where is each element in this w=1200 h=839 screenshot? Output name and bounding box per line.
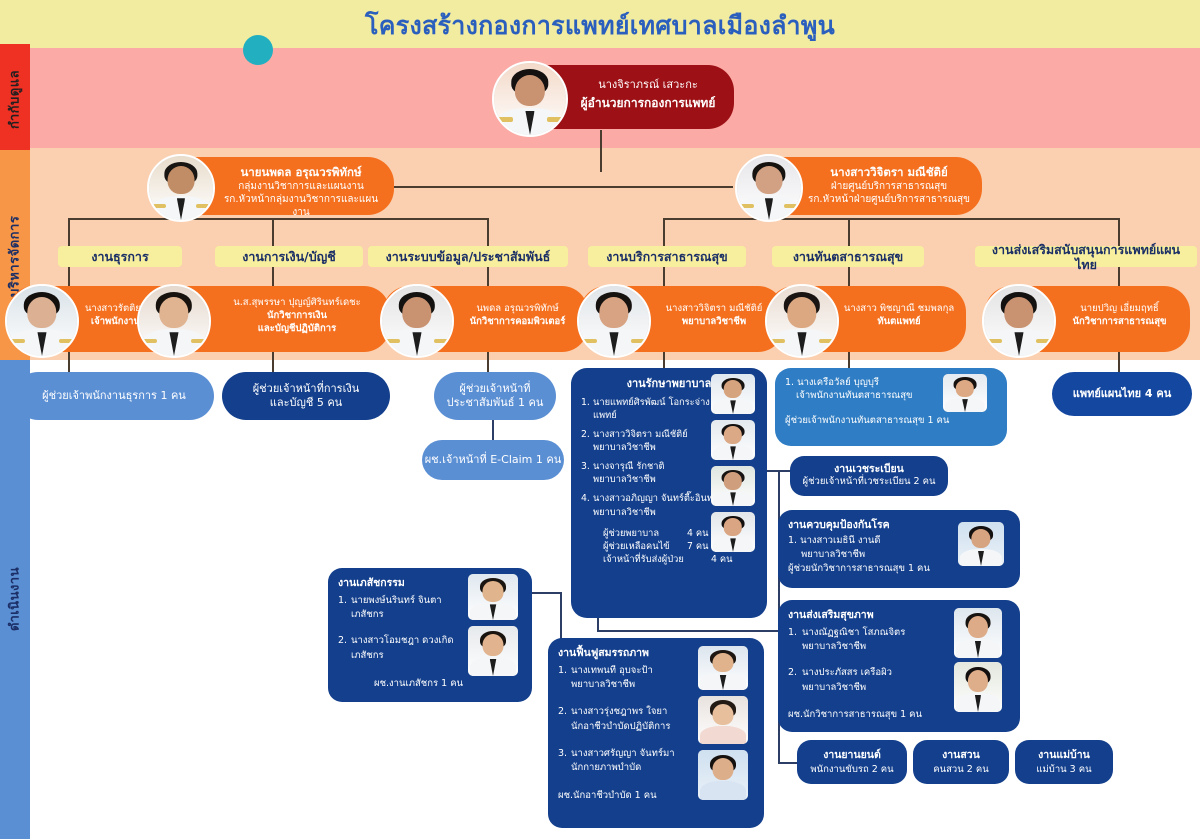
staff6-name: นายปวิญ เอี่ยมฤทธิ์ [1055, 303, 1184, 316]
connector-tag1-down [68, 266, 70, 286]
node-staff-dental[interactable]: นางสาว พิชญาณี ชมพลกุล ทันตแพทย์ [768, 286, 966, 352]
promotion-m1-role: พยาบาลวิชาชีพ [802, 641, 866, 652]
avatar-dental-1 [943, 374, 987, 412]
avatar-nursing-2 [711, 420, 755, 460]
node-housekeeping-unit[interactable]: งานแม่บ้าน แม่บ้าน 3 คน [1015, 740, 1113, 784]
avatar-nursing-3 [711, 466, 755, 506]
staff6-role: นักวิชาการสาธารณสุข [1055, 316, 1184, 329]
node-support-thai-medicine[interactable]: แพทย์แผนไทย 4 คน [1052, 372, 1192, 416]
promotion-m2-name: นางประภัสสร เครือผิว [802, 667, 892, 678]
connector-nursing-rehab [597, 630, 779, 632]
avatar-nursing-1 [711, 374, 755, 414]
node-support-eclaim[interactable]: ผช.เจ้าหน้าที่ E-Claim 1 คน [422, 440, 564, 480]
support4-line1: ผช.เจ้าหน้าที่ E-Claim 1 คน [425, 453, 562, 467]
deputy1-group: กลุ่มงานวิชาการและแผนงาน [216, 180, 386, 193]
node-staff-finance[interactable]: น.ส.สุพรรษา ปุญญ์ศิรินทร์เดชะ นักวิชาการ… [140, 286, 390, 352]
deputy1-acting: รก.หัวหน้ากลุ่มงานวิชาการและแผนงาน [216, 193, 386, 219]
node-deputy-service[interactable]: นางสาววิจิตรา มณีชัติย์ ฝ่ายศูนย์บริการส… [740, 157, 982, 215]
nursing-m4-name: นางสาวอภิญญา จันทร์ตี๊ะอินทร์ [593, 493, 718, 504]
division-tag-public-health[interactable]: งานบริการสาธารณสุข [588, 246, 746, 267]
node-rehab-unit[interactable]: งานฟื้นฟูสมรรถภาพ 1. นางเทพนที อุบจะป้าพ… [548, 638, 764, 828]
support5-line1: แพทย์แผนไทย 4 คน [1073, 387, 1172, 401]
support2-line2: และบัญชี 5 คน [253, 396, 360, 410]
staff3-role: นักวิชาการคอมพิวเตอร์ [453, 316, 582, 329]
staff3-name: นพดล อรุณวรพิทักษ์ [453, 303, 582, 316]
connector-div4-down [663, 218, 665, 246]
node-staff-thai-medicine[interactable]: นายปวิญ เอี่ยมฤทธิ์ นักวิชาการสาธารณสุข [985, 286, 1190, 352]
deputy2-acting: รก.หัวหน้าฝ่ายศูนย์บริการสาธารณสุข [804, 193, 974, 206]
nursing-c2-value: 7 คน [687, 540, 708, 553]
node-health-promotion-unit[interactable]: งานส่งเสริมสุขภาพ 1. นางณัฏฐณิชา โสภณจิต… [778, 600, 1020, 732]
division-tag-thai-medicine[interactable]: งานส่งเสริมสนับสนุนการแพทย์แผนไทย [975, 246, 1197, 267]
rail-label-supervise: กำกับดูแล [0, 44, 30, 154]
org-chart-canvas: โครงสร้างกองการแพทย์เทศบาลเมืองลำพูน กำก… [0, 0, 1200, 839]
nursing-m2-name: นางสาววิจิตรา มณีชัติย์ [593, 429, 688, 440]
promotion-m2-role: พยาบาลวิชาชีพ [802, 682, 866, 693]
avatar-staff-finance [137, 284, 211, 358]
avatar-promotion-1 [954, 608, 1002, 658]
division-tag-information[interactable]: งานระบบข้อมูล/ประชาสัมพันธ์ [368, 246, 568, 267]
node-support-finance[interactable]: ผู้ช่วยเจ้าหน้าที่การเงิน และบัญชี 5 คน [222, 372, 390, 420]
pharmacy-m1-role: เภสัชกร [351, 609, 384, 620]
staff4-role: พยาบาลวิชาชีพ [650, 316, 778, 329]
pharmacy-support: ผช.งานเภสัชกร 1 คน [374, 677, 522, 691]
staff4-name: นางสาววิจิตรา มณีชัติย์ [650, 303, 778, 316]
node-disease-control-unit[interactable]: งานควบคุมป้องกันโรค 1. นางสาวเมธินี งานด… [778, 510, 1020, 588]
footer1-heading: งานยานยนต์ [810, 748, 893, 763]
pharmacy-m2-name: นางสาวโอมชฎา ดวงเกิด [351, 635, 454, 646]
connector-tag3-down [487, 266, 489, 286]
staff2-name: น.ส.สุพรรษา ปุญญ์ศิรินทร์เดชะ [210, 297, 384, 310]
avatar-deputy-service [735, 154, 803, 222]
support2-line1: ผู้ช่วยเจ้าหน้าที่การเงิน [253, 382, 360, 396]
connector-p3-down [487, 352, 489, 372]
deputy2-group: ฝ่ายศูนย์บริการสาธารณสุข [804, 180, 974, 193]
staff2-role: นักวิชาการเงิน [210, 310, 384, 323]
page-title: โครงสร้างกองการแพทย์เทศบาลเมืองลำพูน [0, 6, 1200, 46]
nursing-m4-role: พยาบาลวิชาชีพ [593, 507, 656, 518]
avatar-pharmacy-1 [468, 574, 518, 620]
support1-line1: ผู้ช่วยเจ้าพนักงานธุรการ 1 คน [42, 389, 186, 403]
rehab-m3-name: นางสาวศรัญญา จันทร์มา [571, 748, 675, 759]
rehab-m2-name: นางสาวรุ่งชฎาพร ใจยา [571, 706, 667, 717]
avatar-deputy-academic [147, 154, 215, 222]
node-garden-unit[interactable]: งานสวน คนสวน 2 คน [913, 740, 1009, 784]
rehab-m1-name: นางเทพนที อุบจะป้า [571, 665, 653, 676]
connector-div3-down [487, 218, 489, 246]
connector-p6-down [1118, 352, 1120, 372]
node-staff-public-health[interactable]: นางสาววิจิตรา มณีชัติย์ พยาบาลวิชาชีพ [580, 286, 784, 352]
registry-heading: งานเวชระเบียน [790, 462, 948, 476]
decorative-circle [243, 35, 273, 65]
pharmacy-m1-name: นายพงษ์นรินทร์ จินตา [351, 595, 442, 606]
registry-line2: ผู้ช่วยเจ้าหน้าที่เวชระเบียน 2 คน [790, 476, 948, 489]
connector-right-fan [663, 218, 1119, 220]
connector-tag5-down [848, 266, 850, 286]
staff2-role2: และบัญชีปฏิบัติการ [210, 323, 384, 336]
avatar-rehab-2 [698, 696, 748, 744]
node-support-pr[interactable]: ผู้ช่วยเจ้าหน้าที่ ประชาสัมพันธ์ 1 คน [434, 372, 556, 420]
avatar-staff-public-health [577, 284, 651, 358]
division-tag-dental[interactable]: งานทันตสาธารณสุข [772, 246, 924, 267]
director-position: ผู้อำนวยการกองการแพทย์ [570, 95, 726, 111]
avatar-rehab-3 [698, 750, 748, 800]
avatar-staff-thai-medicine [982, 284, 1056, 358]
support3-line2: ประชาสัมพันธ์ 1 คน [447, 396, 544, 410]
connector-p2-down [272, 352, 274, 372]
nursing-c3-value: 4 คน [711, 553, 732, 566]
deputy1-name: นายนพดล อรุณวรพิทักษ์ [216, 165, 386, 180]
nursing-c1-value: 4 คน [687, 527, 708, 540]
node-dental-unit[interactable]: 1. นางเครือวัลย์ บุญบุรี เจ้าพนักงานทันต… [775, 368, 1007, 446]
connector-tag4-down [663, 266, 665, 286]
connector-director-down [600, 130, 602, 172]
deputy2-name: นางสาววิจิตรา มณีชัติย์ [804, 165, 974, 180]
nursing-m1-role: แพทย์ [593, 410, 617, 421]
support3-line1: ผู้ช่วยเจ้าหน้าที่ [447, 382, 544, 396]
avatar-rehab-1 [698, 646, 748, 690]
avatar-pharmacy-2 [468, 626, 518, 676]
connector-pharmacy-down [560, 592, 562, 642]
staff5-role: ทันตแพทย์ [838, 316, 960, 329]
node-nursing-unit[interactable]: งานรักษาพยาบาล 1. นายแพทย์ศิรพัฒน์ โอกระ… [571, 368, 767, 618]
nursing-m3-name: นางจารุณี รักชาติ [593, 461, 665, 472]
node-director[interactable]: นางจิราภรณ์ เสวะกะ ผู้อำนวยการกองการแพทย… [498, 65, 734, 129]
connector-div1-down [68, 218, 70, 246]
avatar-disease-1 [958, 522, 1004, 566]
division-tag-finance[interactable]: งานการเงิน/บัญชี [215, 246, 363, 267]
rail-label-operate: ดำเนินงาน [0, 360, 30, 839]
staff5-name: นางสาว พิชญาณี ชมพลกุล [838, 303, 960, 316]
node-staff-information[interactable]: นพดล อรุณวรพิทักษ์ นักวิชาการคอมพิวเตอร์ [383, 286, 588, 352]
avatar-staff-dental [765, 284, 839, 358]
nursing-m2-role: พยาบาลวิชาชีพ [593, 442, 656, 453]
avatar-director [492, 61, 568, 137]
nursing-c1-label: ผู้ช่วยพยาบาล [603, 527, 687, 540]
director-name: นางจิราภรณ์ เสวะกะ [570, 78, 726, 93]
avatar-promotion-2 [954, 662, 1002, 712]
node-deputy-academic[interactable]: นายนพดล อรุณวรพิทักษ์ กลุ่มงานวิชาการและ… [152, 157, 394, 215]
avatar-staff-information [380, 284, 454, 358]
nursing-c3-label: เจ้าหน้าที่รับส่งผู้ป่วย [603, 553, 711, 566]
avatar-staff-administration [5, 284, 79, 358]
node-vehicle-unit[interactable]: งานยานยนต์ พนักงานขับรถ 2 คน [797, 740, 907, 784]
connector-nursing-down [597, 617, 599, 632]
connector-tag2-down [272, 266, 274, 286]
avatar-nursing-4 [711, 512, 755, 552]
nursing-m3-role: พยาบาลวิชาชีพ [593, 474, 656, 485]
footer3-line2: แม่บ้าน 3 คน [1036, 763, 1091, 776]
rehab-m2-role: นักอาชีวบำบัดปฏิบัติการ [571, 721, 670, 732]
promotion-m1-name: นางณัฏฐณิชา โสภณจิตร [802, 627, 905, 638]
footer2-line2: คนสวน 2 คน [933, 763, 988, 776]
pharmacy-m2-role: เภสัชกร [351, 650, 384, 661]
division-tag-administration[interactable]: งานธุรการ [58, 246, 182, 267]
node-support-administration[interactable]: ผู้ช่วยเจ้าพนักงานธุรการ 1 คน [14, 372, 214, 420]
connector-right-deputy-down [848, 218, 850, 246]
node-pharmacy-unit[interactable]: งานเภสัชกรรม 1. นายพงษ์นรินทร์ จินตาเภสั… [328, 568, 532, 702]
node-registry-unit[interactable]: งานเวชระเบียน ผู้ช่วยเจ้าหน้าที่เวชระเบี… [790, 456, 948, 496]
dental-support: ผู้ช่วยเจ้าพนักงานทันตสาธารณสุข 1 คน [785, 414, 997, 427]
nursing-m1-name: นายแพทย์ศิรพัฒน์ โอกระจ่าง [593, 397, 710, 408]
rehab-m1-role: พยาบาลวิชาชีพ [571, 679, 635, 690]
footer1-line2: พนักงานขับรถ 2 คน [810, 763, 893, 776]
connector-left-deputy-down [272, 218, 274, 246]
nursing-c2-label: ผู้ช่วยเหลือคนไข้ [603, 540, 687, 553]
footer2-heading: งานสวน [933, 748, 988, 763]
rehab-m3-role: นักกายภาพบำบัด [571, 762, 641, 773]
footer3-heading: งานแม่บ้าน [1036, 748, 1091, 763]
